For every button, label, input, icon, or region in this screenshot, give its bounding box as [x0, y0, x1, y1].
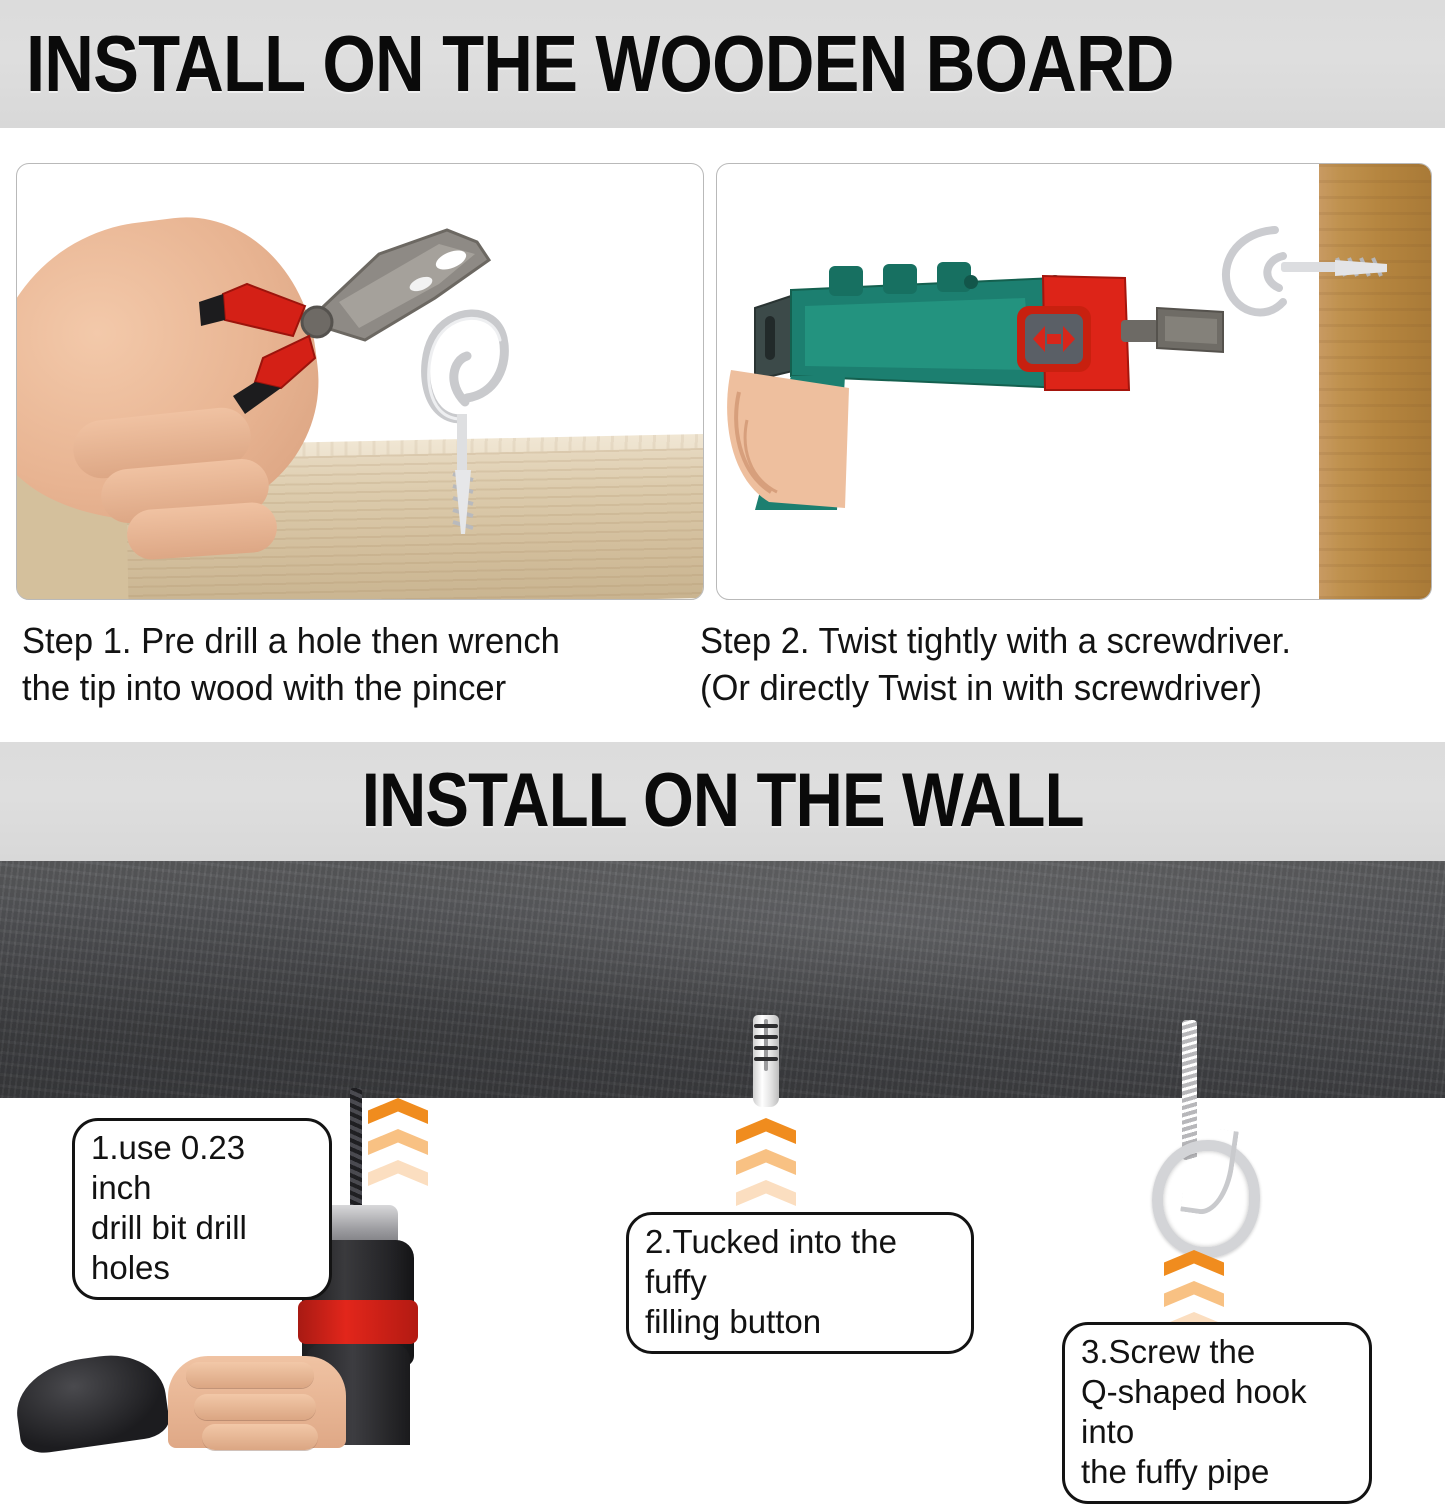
anchor-rib [754, 1035, 778, 1039]
page-title-wooden-board: INSTALL ON THE WOODEN BOARD [26, 26, 1174, 103]
screwdriver-panel [716, 163, 1432, 600]
drill-hole-callout: 1.use 0.23 inch drill bit drill holes [72, 1118, 332, 1300]
chevron-up-icon [736, 1180, 796, 1206]
chevron-up-icon [368, 1098, 428, 1124]
concrete-wall [0, 861, 1445, 1098]
anchor-rib [754, 1024, 778, 1028]
anchor-callout: 2.Tucked into the fuffy filling button [626, 1212, 974, 1354]
chevron-up-icon [1164, 1281, 1224, 1307]
hook-callout: 3.Screw the Q-shaped hook into the fuffy… [1062, 1322, 1372, 1504]
anchor-rib [754, 1046, 778, 1050]
step-1-caption: Step 1. Pre drill a hole then wrench the… [22, 618, 675, 712]
anchor-rib [754, 1057, 778, 1061]
wall-anchor-icon [753, 1015, 779, 1107]
q-hook-driven-icon [1187, 210, 1417, 360]
page-title-wall: INSTALL ON THE WALL [362, 765, 1084, 838]
finger-icon [202, 1424, 318, 1450]
drill-collar [298, 1300, 418, 1344]
arrow-group-1 [368, 1098, 428, 1191]
chevron-up-icon [368, 1129, 428, 1155]
chevron-up-icon [1164, 1250, 1224, 1276]
drill-bit-icon [350, 1088, 362, 1212]
wooden-board-heading-band: INSTALL ON THE WOODEN BOARD [0, 0, 1445, 128]
finger-icon [186, 1362, 314, 1388]
chevron-up-icon [736, 1118, 796, 1144]
arrow-group-2 [736, 1118, 796, 1211]
finger-icon [194, 1394, 316, 1420]
wall-heading-band: INSTALL ON THE WALL [0, 742, 1445, 861]
chevron-up-icon [368, 1160, 428, 1186]
pliers-panel [16, 163, 704, 600]
q-hook-screw-icon [403, 234, 523, 564]
finger-icon [125, 501, 278, 561]
step-2-caption: Step 2. Twist tightly with a screwdriver… [700, 618, 1410, 712]
chevron-up-icon [736, 1149, 796, 1175]
